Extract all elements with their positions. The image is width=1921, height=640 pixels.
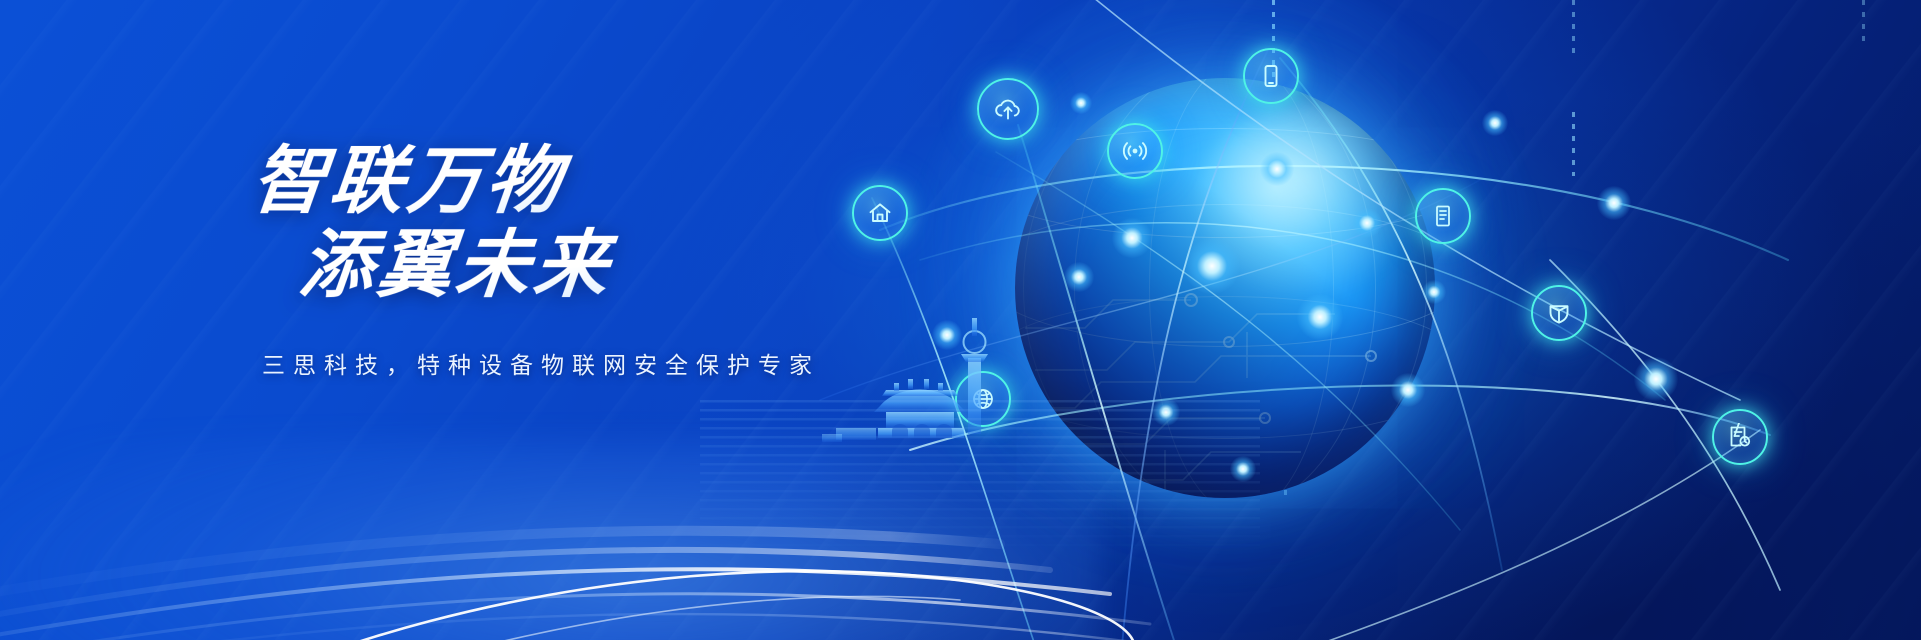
building-list-icon[interactable] [1415,188,1471,244]
hero-banner: 智联万物 添翼未来 三思科技，特种设备物联网安全保护专家 [0,0,1921,640]
headline-line-1: 智联万物 [247,138,1036,224]
hero-subtitle: 三思科技，特种设备物联网安全保护专家 [262,346,1032,380]
wifi-signal-icon[interactable] [1107,123,1163,179]
mobile-phone-icon[interactable] [1243,48,1299,104]
document-time-icon[interactable] [1712,409,1768,465]
shield-icon[interactable] [1531,285,1587,341]
headline-line-2: 添翼未来 [295,222,1036,308]
hero-copy: 智联万物 添翼未来 三思科技，特种设备物联网安全保护专家 [252,138,1032,380]
cloud-upload-icon[interactable] [977,78,1039,140]
